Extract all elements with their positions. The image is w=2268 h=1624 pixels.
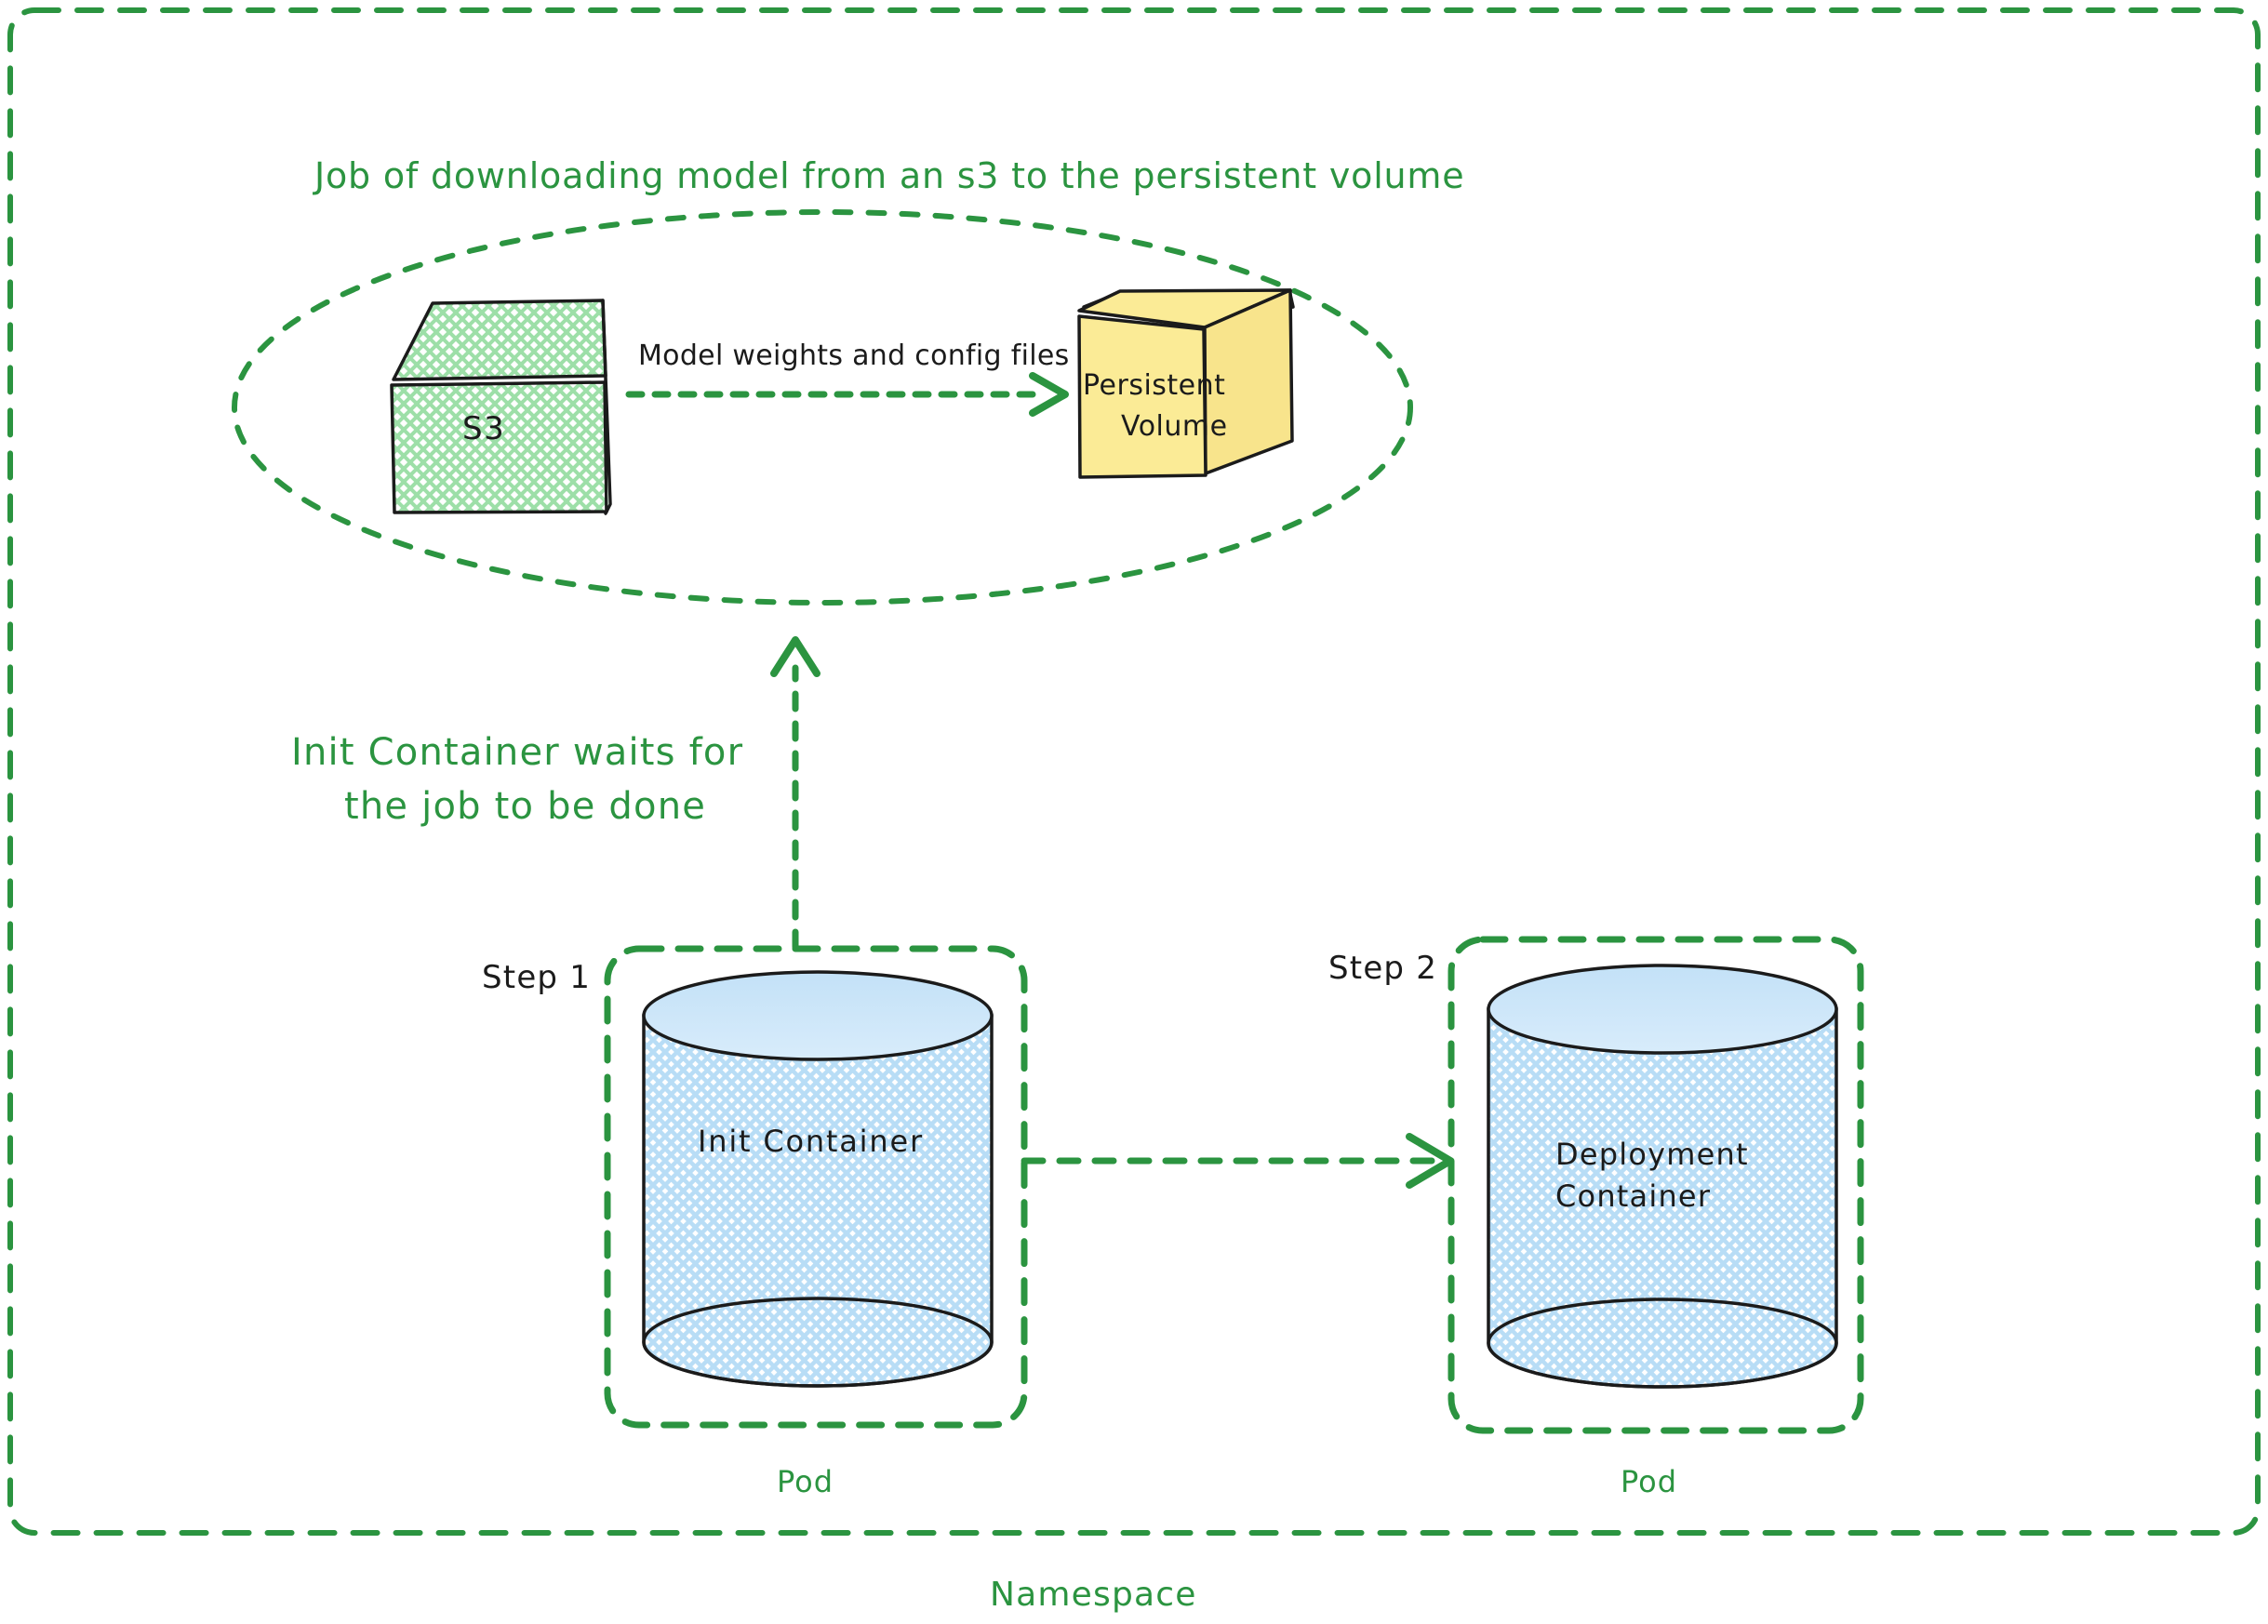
deployment-container-label-line1: Deployment — [1555, 1137, 1749, 1172]
init-container-label: Init Container — [698, 1124, 924, 1159]
diagram-svg: S3 Persistent Volume Model weights and c… — [0, 0, 2268, 1624]
pod-label-2: Pod — [1621, 1464, 1677, 1499]
download-edge — [629, 376, 1065, 413]
download-edge-label: Model weights and config files — [638, 339, 1070, 372]
namespace-label: Namespace — [990, 1576, 1197, 1614]
deployment-container-label-line2: Container — [1555, 1178, 1711, 1214]
pod-label-1: Pod — [777, 1464, 834, 1499]
persistent-volume-label-line2: Volume — [1121, 410, 1228, 443]
job-caption: Job of downloading model from an s3 to t… — [313, 155, 1464, 196]
init-wait-annotation-line1: Init Container waits for — [291, 731, 743, 774]
s3-cube-label: S3 — [462, 410, 505, 447]
init-container-cylinder — [644, 972, 992, 1386]
s3-cube — [392, 300, 610, 513]
step-label-2: Step 2 — [1328, 950, 1437, 987]
init-wait-annotation-line2: the job to be done — [344, 785, 706, 828]
pod-transition-edge — [1024, 1137, 1450, 1185]
deployment-container-cylinder — [1488, 965, 1836, 1387]
diagram-canvas: S3 Persistent Volume Model weights and c… — [0, 0, 2268, 1624]
step-label-1: Step 1 — [482, 959, 591, 996]
persistent-volume-label-line1: Persistent — [1083, 369, 1225, 402]
init-wait-edge — [774, 640, 817, 947]
